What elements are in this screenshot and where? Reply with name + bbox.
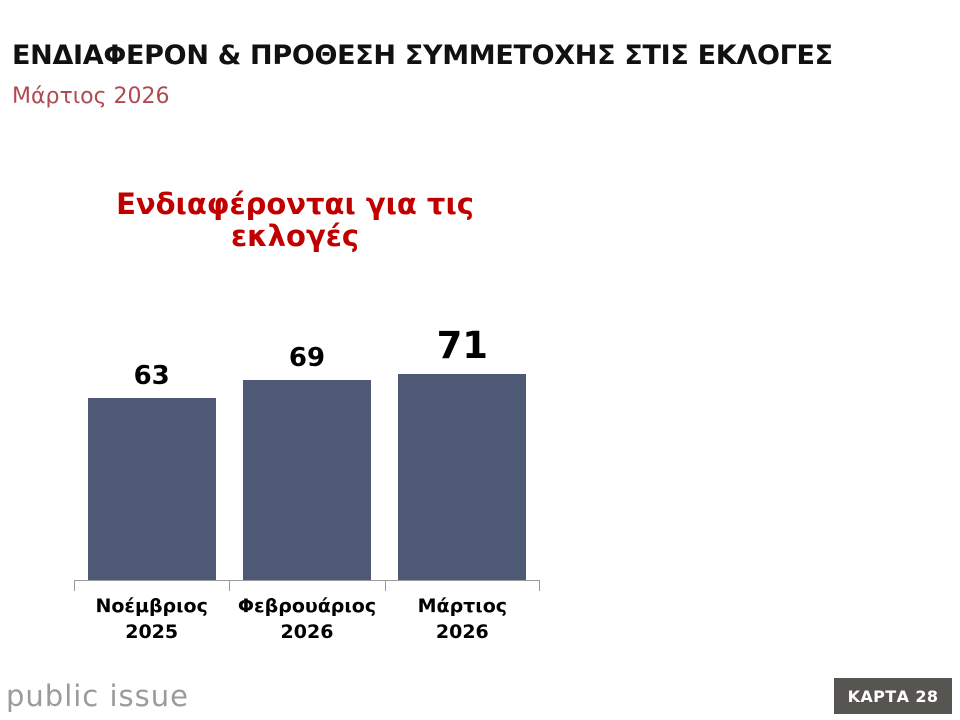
axis-tick: [539, 580, 540, 591]
x-axis-category-label: Νοέμβριος2025: [74, 594, 229, 645]
axis-tick: [74, 580, 75, 591]
bar: [88, 398, 216, 581]
bar: [398, 374, 526, 581]
category-label-line: 2026: [385, 620, 540, 646]
chart-heading-interest: Ενδιαφέρονται για τις εκλογές: [60, 188, 530, 253]
chart-panel-interest: Ενδιαφέρονται για τις εκλογές 636971 Νοέ…: [0, 0, 560, 720]
axis-line: [74, 580, 540, 581]
category-label-line: 2026: [229, 620, 384, 646]
card-number-badge: ΚΑΡΤΑ 28: [834, 678, 952, 714]
bar: [243, 380, 371, 581]
bar-value-label: 69: [289, 345, 325, 371]
x-axis-labels-interest: Νοέμβριος2025Φεβρουάριος2026Μάρτιος2026: [74, 594, 540, 664]
category-label-line: 2025: [74, 620, 229, 646]
category-label-line: Φεβρουάριος: [229, 594, 384, 620]
bar-value-label: 63: [134, 363, 170, 389]
x-axis-interest: [74, 580, 540, 592]
chart-panel-turnout: Θα ψηφίσουν (Σίγουρα+μάλλον ναι) 8686 Φε…: [560, 0, 960, 720]
bar-column: 69: [229, 290, 384, 581]
category-label-line: Νοέμβριος: [74, 594, 229, 620]
axis-tick: [385, 580, 386, 591]
x-axis-category-label: Μάρτιος2026: [385, 594, 540, 645]
bar-column: 71: [385, 290, 540, 581]
plot-area-interest: 636971: [74, 290, 540, 581]
x-axis-category-label: Φεβρουάριος2026: [229, 594, 384, 645]
public-issue-logo: public issue: [6, 682, 189, 711]
category-label-line: Μάρτιος: [385, 594, 540, 620]
axis-tick: [229, 580, 230, 591]
bar-column: 63: [74, 290, 229, 581]
bar-value-label: 71: [437, 327, 489, 364]
